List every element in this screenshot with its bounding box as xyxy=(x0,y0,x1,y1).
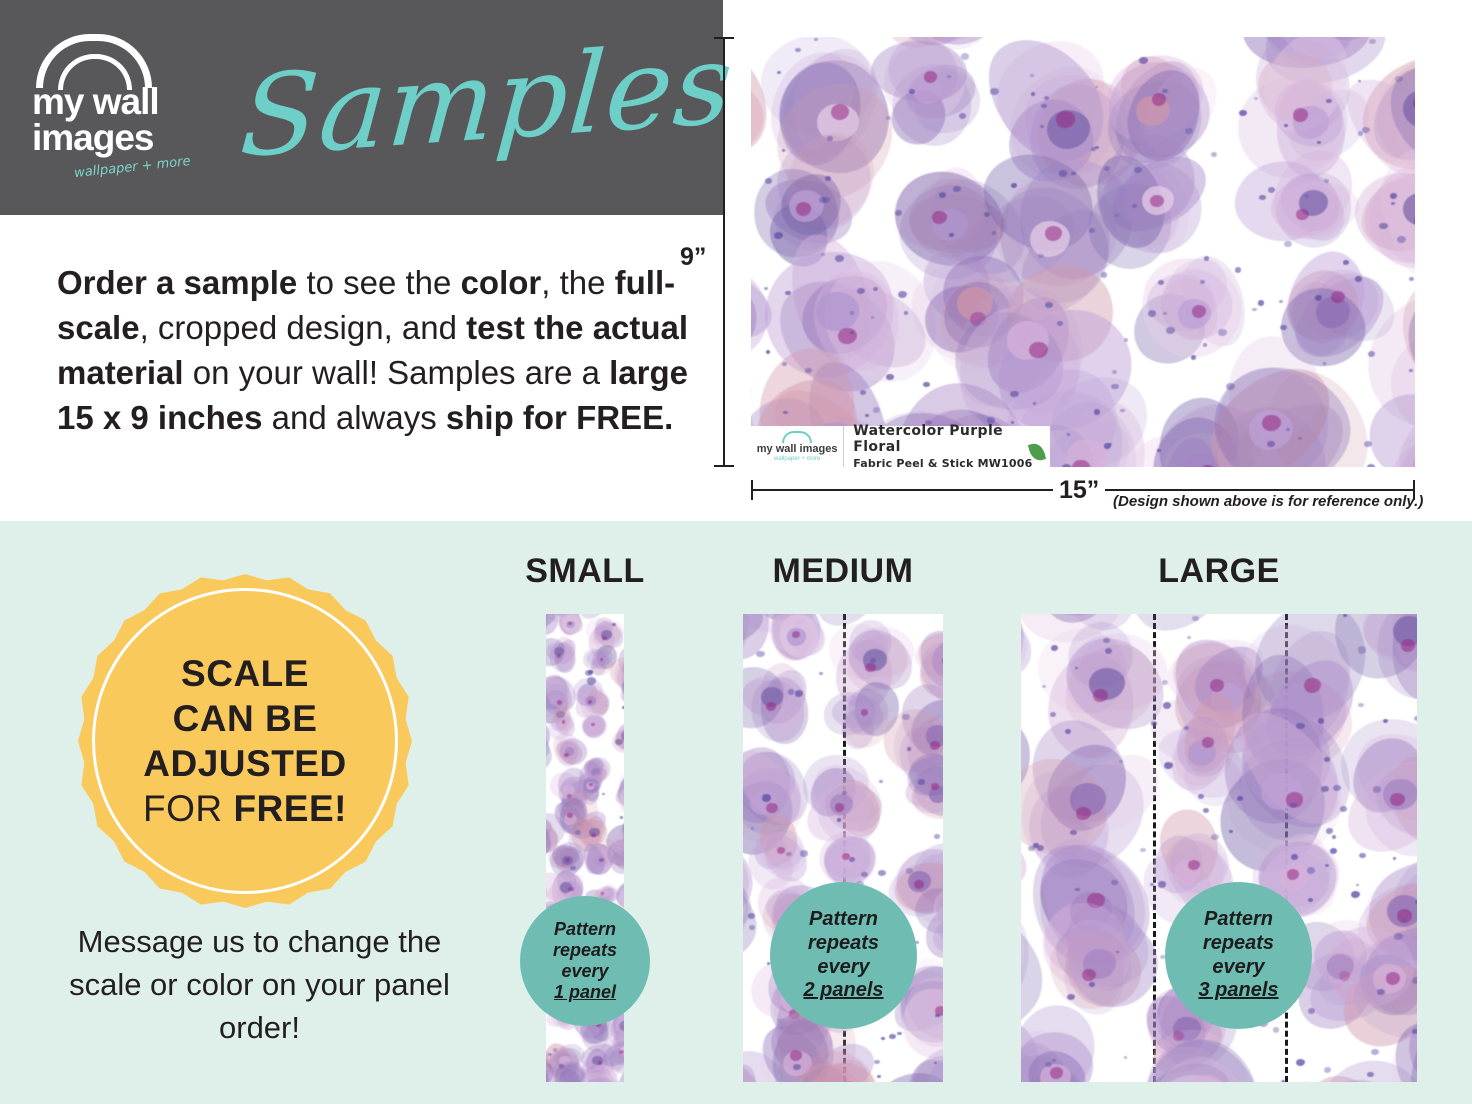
message-us-copy: Message us to change the scale or color … xyxy=(62,920,457,1049)
pattern-repeat-bubble-medium: Pattern repeats every 2 panels xyxy=(770,882,917,1029)
sticker-arch-icon xyxy=(782,431,812,443)
badge-line-4: FOR FREE! xyxy=(143,786,347,831)
sticker-product-details: Fabric Peel & Stick MW1006 xyxy=(853,457,1050,467)
scale-column-large: LARGE Pattern repeats every 3 panels xyxy=(1013,552,1425,1082)
sticker-brand-logo: my wall images wallpaper + more xyxy=(751,426,844,467)
bubble-line-1: Pattern xyxy=(1198,908,1278,932)
brand-logo: my wall images wallpaper + more xyxy=(28,34,228,184)
bubble-line-3: every xyxy=(553,961,617,982)
logo-line-1: my wall xyxy=(32,84,159,120)
width-dimension-label: 15” xyxy=(1053,476,1105,505)
sample-product-sticker: my wall images wallpaper + more Watercol… xyxy=(751,426,1050,467)
bubble-line-2: repeats xyxy=(553,940,617,961)
scale-title-small: SMALL xyxy=(503,552,667,591)
logo-line-2: images xyxy=(32,120,154,156)
sticker-product-info: Watercolor Purple Floral Fabric Peel & S… xyxy=(844,423,1050,467)
pattern-repeat-bubble-small: Pattern repeats every 1 panel xyxy=(520,896,650,1026)
scale-column-medium: MEDIUM Pattern repeats every 2 panels xyxy=(713,552,973,1082)
bubble-line-4: 1 panel xyxy=(553,982,617,1003)
bubble-line-1: Pattern xyxy=(553,919,617,940)
height-dimension-line xyxy=(723,37,725,467)
bubble-line-1: Pattern xyxy=(803,908,883,932)
badge-line-2: CAN BE xyxy=(173,696,318,741)
scale-title-medium: MEDIUM xyxy=(713,552,973,591)
bubble-line-4: 2 panels xyxy=(803,979,883,1003)
badge-text: SCALE CAN BE ADJUSTED FOR FREE! xyxy=(92,588,398,894)
reference-note: (Design shown above is for reference onl… xyxy=(1113,493,1423,510)
sticker-product-name: Watercolor Purple Floral xyxy=(853,423,1050,455)
bubble-line-3: every xyxy=(803,956,883,980)
logo-tagline: wallpaper + more xyxy=(74,154,192,181)
badge-line-1: SCALE xyxy=(181,651,309,696)
bubble-line-4: 3 panels xyxy=(1198,979,1278,1003)
scale-column-small: SMALL Pattern repeats every 1 panel xyxy=(503,552,667,1082)
sample-design-image: my wall images wallpaper + more Watercol… xyxy=(751,37,1415,467)
bubble-line-2: repeats xyxy=(1198,932,1278,956)
scale-free-badge: SCALE CAN BE ADJUSTED FOR FREE! xyxy=(78,574,412,908)
bubble-line-3: every xyxy=(1198,956,1278,980)
scale-title-large: LARGE xyxy=(1013,552,1425,591)
sticker-logo-line-2: wallpaper + more xyxy=(774,455,820,463)
page-title: Samples xyxy=(237,19,738,183)
sticker-logo-line-1: my wall images xyxy=(757,444,838,455)
order-sample-copy: Order a sample to see the color, the ful… xyxy=(57,260,697,440)
pattern-repeat-bubble-large: Pattern repeats every 3 panels xyxy=(1165,882,1312,1029)
header-banner: my wall images wallpaper + more Samples xyxy=(0,0,723,215)
bubble-line-2: repeats xyxy=(803,932,883,956)
badge-line-3: ADJUSTED xyxy=(143,741,346,786)
